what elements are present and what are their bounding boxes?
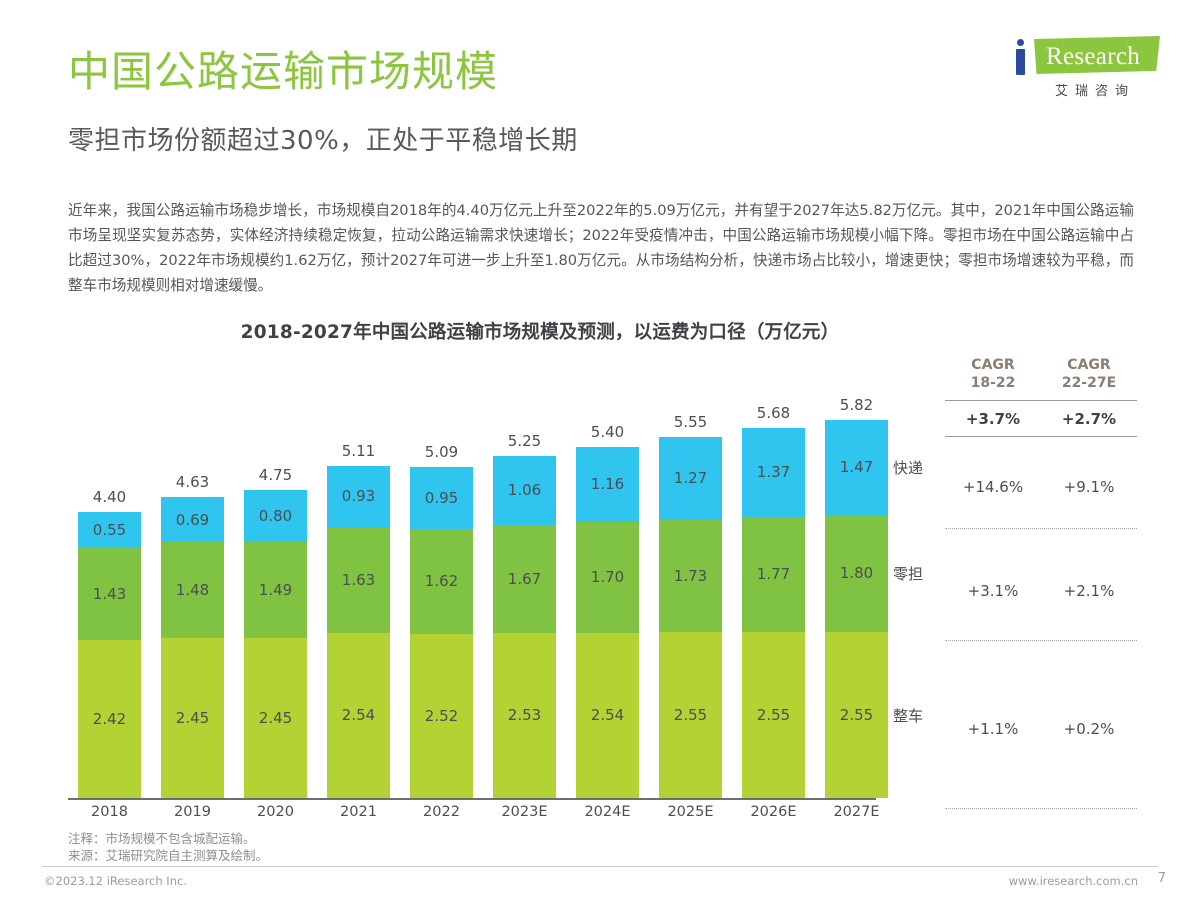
chart-plot-area: 0.551.432.424.400.691.482.454.630.801.49… [68, 352, 876, 800]
body-paragraph: 近年来，我国公路运输市场稳步增长，市场规模自2018年的4.40万亿元上升至20… [68, 198, 1134, 298]
series-label-express: 快递 [893, 457, 941, 478]
bar-column[interactable]: 0.951.622.525.09 [410, 467, 473, 798]
bar-segment-value: 0.93 [342, 487, 375, 505]
x-axis-label: 2025E [649, 804, 732, 820]
cagr-header-col2: CAGR 22-27E [1041, 356, 1137, 392]
cagr-rule-under-total [945, 436, 1137, 437]
bar-segment-express[interactable]: 0.93 [327, 466, 390, 526]
bar-total-label: 5.68 [732, 404, 815, 422]
cagr-total-22-27: +2.7% [1041, 410, 1137, 428]
x-axis-label: 2023E [483, 804, 566, 820]
bar-column[interactable]: 1.061.672.535.25 [493, 456, 556, 798]
logo-i-dot-icon [1017, 39, 1024, 46]
bar-segment-value: 1.67 [508, 570, 541, 588]
x-axis-label: 2024E [566, 804, 649, 820]
bar-segment-value: 1.73 [674, 567, 707, 585]
bar-segment-value: 1.80 [840, 564, 873, 582]
bar-segment-ltl[interactable]: 1.77 [742, 517, 805, 632]
bar-column[interactable]: 0.551.432.424.40 [78, 512, 141, 798]
bar-total-label: 5.55 [649, 413, 732, 431]
stacked-bar[interactable]: 0.691.482.45 [161, 497, 224, 797]
x-axis-line [68, 798, 876, 801]
stacked-bar[interactable]: 0.801.492.45 [244, 490, 307, 798]
x-axis-label: 2026E [732, 804, 815, 820]
bar-segment-value: 2.53 [508, 706, 541, 724]
cagr-ftl-22-27: +0.2% [1041, 720, 1137, 738]
bar-column[interactable]: 1.161.702.545.40 [576, 447, 639, 798]
stacked-bar[interactable]: 0.951.622.52 [410, 467, 473, 798]
footer-website: www.iresearch.com.cn [1009, 874, 1138, 888]
bar-column[interactable]: 1.371.772.555.68 [742, 428, 805, 798]
stacked-bar[interactable]: 1.271.732.55 [659, 437, 722, 797]
bar-total-label: 4.75 [234, 466, 317, 484]
bar-segment-express[interactable]: 0.69 [161, 497, 224, 542]
series-label-ltl: 零担 [893, 563, 941, 584]
cagr-header-col1-line1: CAGR [971, 357, 1014, 373]
bar-segment-express[interactable]: 1.16 [576, 447, 639, 522]
bar-segment-value: 1.37 [757, 463, 790, 481]
bar-segment-ltl[interactable]: 1.62 [410, 529, 473, 634]
bar-segment-ftl[interactable]: 2.53 [493, 633, 556, 797]
footer-copyright: ©2023.12 iResearch Inc. [44, 874, 187, 888]
bar-total-label: 5.25 [483, 432, 566, 450]
stacked-bar-chart: 0.551.432.424.400.691.482.454.630.801.49… [68, 352, 876, 804]
bar-total-label: 4.40 [68, 488, 151, 506]
x-axis-label: 2020 [234, 804, 317, 820]
bar-segment-ftl[interactable]: 2.55 [742, 632, 805, 798]
bar-total-label: 4.63 [151, 473, 234, 491]
bar-total-label: 5.11 [317, 442, 400, 460]
bar-segment-express[interactable]: 1.27 [659, 437, 722, 519]
x-axis-label: 2018 [68, 804, 151, 820]
bar-column[interactable]: 0.801.492.454.75 [244, 490, 307, 798]
cagr-ftl-18-22: +1.1% [945, 720, 1041, 738]
x-axis-label: 2027E [815, 804, 898, 820]
cagr-header-col1: CAGR 18-22 [945, 356, 1041, 392]
stacked-bar[interactable]: 1.471.802.55 [825, 420, 888, 798]
logo-mark: Research [1012, 34, 1162, 78]
bar-column[interactable]: 1.271.732.555.55 [659, 437, 722, 797]
bar-segment-value: 1.48 [176, 581, 209, 599]
stacked-bar[interactable]: 1.371.772.55 [742, 428, 805, 798]
bar-segment-ltl[interactable]: 1.48 [161, 542, 224, 638]
stacked-bar[interactable]: 1.161.702.54 [576, 447, 639, 798]
chart-notes: 注释：市场规模不包含城配运输。 来源：艾瑞研究院自主测算及绘制。 [68, 830, 268, 864]
bar-segment-value: 2.42 [93, 710, 126, 728]
bar-segment-value: 1.16 [591, 475, 624, 493]
logo-i-stem-icon [1016, 49, 1025, 75]
bar-segment-value: 1.62 [425, 572, 458, 590]
footer-page-number: 7 [1158, 871, 1166, 886]
cagr-rule-ftl [945, 808, 1137, 809]
bar-segment-express[interactable]: 0.55 [78, 512, 141, 548]
bar-segment-express[interactable]: 1.37 [742, 428, 805, 517]
bar-segment-value: 1.77 [757, 565, 790, 583]
cagr-express-18-22: +14.6% [945, 478, 1041, 496]
bar-segment-ftl[interactable]: 2.55 [825, 632, 888, 798]
bar-column[interactable]: 0.691.482.454.63 [161, 497, 224, 797]
cagr-ltl-22-27: +2.1% [1041, 582, 1137, 600]
bar-segment-value: 2.55 [840, 706, 873, 724]
cagr-total-18-22: +3.7% [945, 410, 1041, 428]
bar-segment-value: 2.54 [591, 706, 624, 724]
bar-segment-ftl[interactable]: 2.45 [244, 638, 307, 797]
note-line: 注释：市场规模不包含城配运输。 [68, 830, 268, 847]
bar-segment-express[interactable]: 1.47 [825, 420, 888, 515]
bar-segment-ltl[interactable]: 1.80 [825, 515, 888, 632]
logo-chinese-name: 艾瑞咨询 [1030, 80, 1160, 99]
bar-column[interactable]: 1.471.802.555.82 [825, 420, 888, 798]
page-title: 中国公路运输市场规模 [68, 46, 498, 98]
bar-segment-ftl[interactable]: 2.54 [327, 633, 390, 798]
bar-total-label: 5.09 [400, 443, 483, 461]
source-line: 来源：艾瑞研究院自主测算及绘制。 [68, 847, 268, 864]
logo-wordmark: Research [1046, 43, 1140, 71]
bar-segment-ltl[interactable]: 1.73 [659, 520, 722, 632]
chart-title: 2018-2027年中国公路运输市场规模及预测，以运费为口径（万亿元） [0, 318, 1080, 344]
bar-segment-value: 1.43 [93, 585, 126, 603]
bar-segment-value: 0.95 [425, 489, 458, 507]
stacked-bar[interactable]: 0.931.632.54 [327, 466, 390, 797]
cagr-table: CAGR 18-22 CAGR 22-27E +3.7% +2.7% +14.6… [945, 356, 1137, 816]
bar-segment-ftl[interactable]: 2.55 [659, 632, 722, 798]
cagr-header-col2-line1: CAGR [1067, 357, 1110, 373]
bar-segment-value: 2.55 [757, 706, 790, 724]
bar-segment-value: 2.52 [425, 707, 458, 725]
x-axis-label: 2019 [151, 804, 234, 820]
bar-total-label: 5.82 [815, 396, 898, 414]
bar-segment-value: 1.49 [259, 581, 292, 599]
cagr-header-col2-line2: 22-27E [1062, 375, 1116, 391]
bar-segment-ltl[interactable]: 1.67 [493, 525, 556, 633]
bar-segment-ftl[interactable]: 2.52 [410, 634, 473, 798]
series-label-ftl: 整车 [893, 705, 941, 726]
iresearch-logo: Research 艾瑞咨询 [1012, 34, 1162, 104]
cagr-rule-ltl [945, 640, 1137, 641]
bar-segment-express[interactable]: 1.06 [493, 456, 556, 525]
bar-segment-value: 2.54 [342, 706, 375, 724]
bar-segment-value: 2.55 [674, 706, 707, 724]
bar-segment-ltl[interactable]: 1.70 [576, 522, 639, 632]
bar-segment-ftl[interactable]: 2.42 [78, 640, 141, 797]
cagr-express-22-27: +9.1% [1041, 478, 1137, 496]
bar-segment-value: 2.45 [259, 709, 292, 727]
stacked-bar[interactable]: 0.551.432.42 [78, 512, 141, 798]
bar-segment-ftl[interactable]: 2.45 [161, 638, 224, 797]
bar-segment-value: 0.80 [259, 507, 292, 525]
footer-divider [42, 866, 1158, 867]
bar-segment-ltl[interactable]: 1.49 [244, 542, 307, 639]
bar-segment-value: 1.63 [342, 571, 375, 589]
bar-segment-value: 0.69 [176, 511, 209, 529]
bar-segment-value: 1.47 [840, 458, 873, 476]
bar-segment-value: 1.06 [508, 481, 541, 499]
cagr-ltl-18-22: +3.1% [945, 582, 1041, 600]
bar-column[interactable]: 0.931.632.545.11 [327, 466, 390, 797]
bar-total-label: 5.40 [566, 423, 649, 441]
x-axis-label: 2021 [317, 804, 400, 820]
bar-segment-value: 1.70 [591, 568, 624, 586]
x-axis-label: 2022 [400, 804, 483, 820]
cagr-header-col1-line2: 18-22 [971, 375, 1016, 391]
stacked-bar[interactable]: 1.061.672.53 [493, 456, 556, 798]
cagr-rule-top [945, 400, 1137, 401]
bar-segment-value: 0.55 [93, 521, 126, 539]
page-subtitle: 零担市场份额超过30%，正处于平稳增长期 [68, 124, 578, 158]
bar-segment-express[interactable]: 0.80 [244, 490, 307, 542]
slide-root: Research 艾瑞咨询 中国公路运输市场规模 零担市场份额超过30%，正处于… [0, 0, 1200, 900]
bar-segment-ltl[interactable]: 1.63 [327, 527, 390, 633]
bar-segment-value: 1.27 [674, 469, 707, 487]
bar-segment-ftl[interactable]: 2.54 [576, 633, 639, 798]
cagr-rule-express [945, 528, 1137, 529]
bar-segment-value: 2.45 [176, 709, 209, 727]
bar-segment-express[interactable]: 0.95 [410, 467, 473, 529]
bar-segment-ltl[interactable]: 1.43 [78, 547, 141, 640]
